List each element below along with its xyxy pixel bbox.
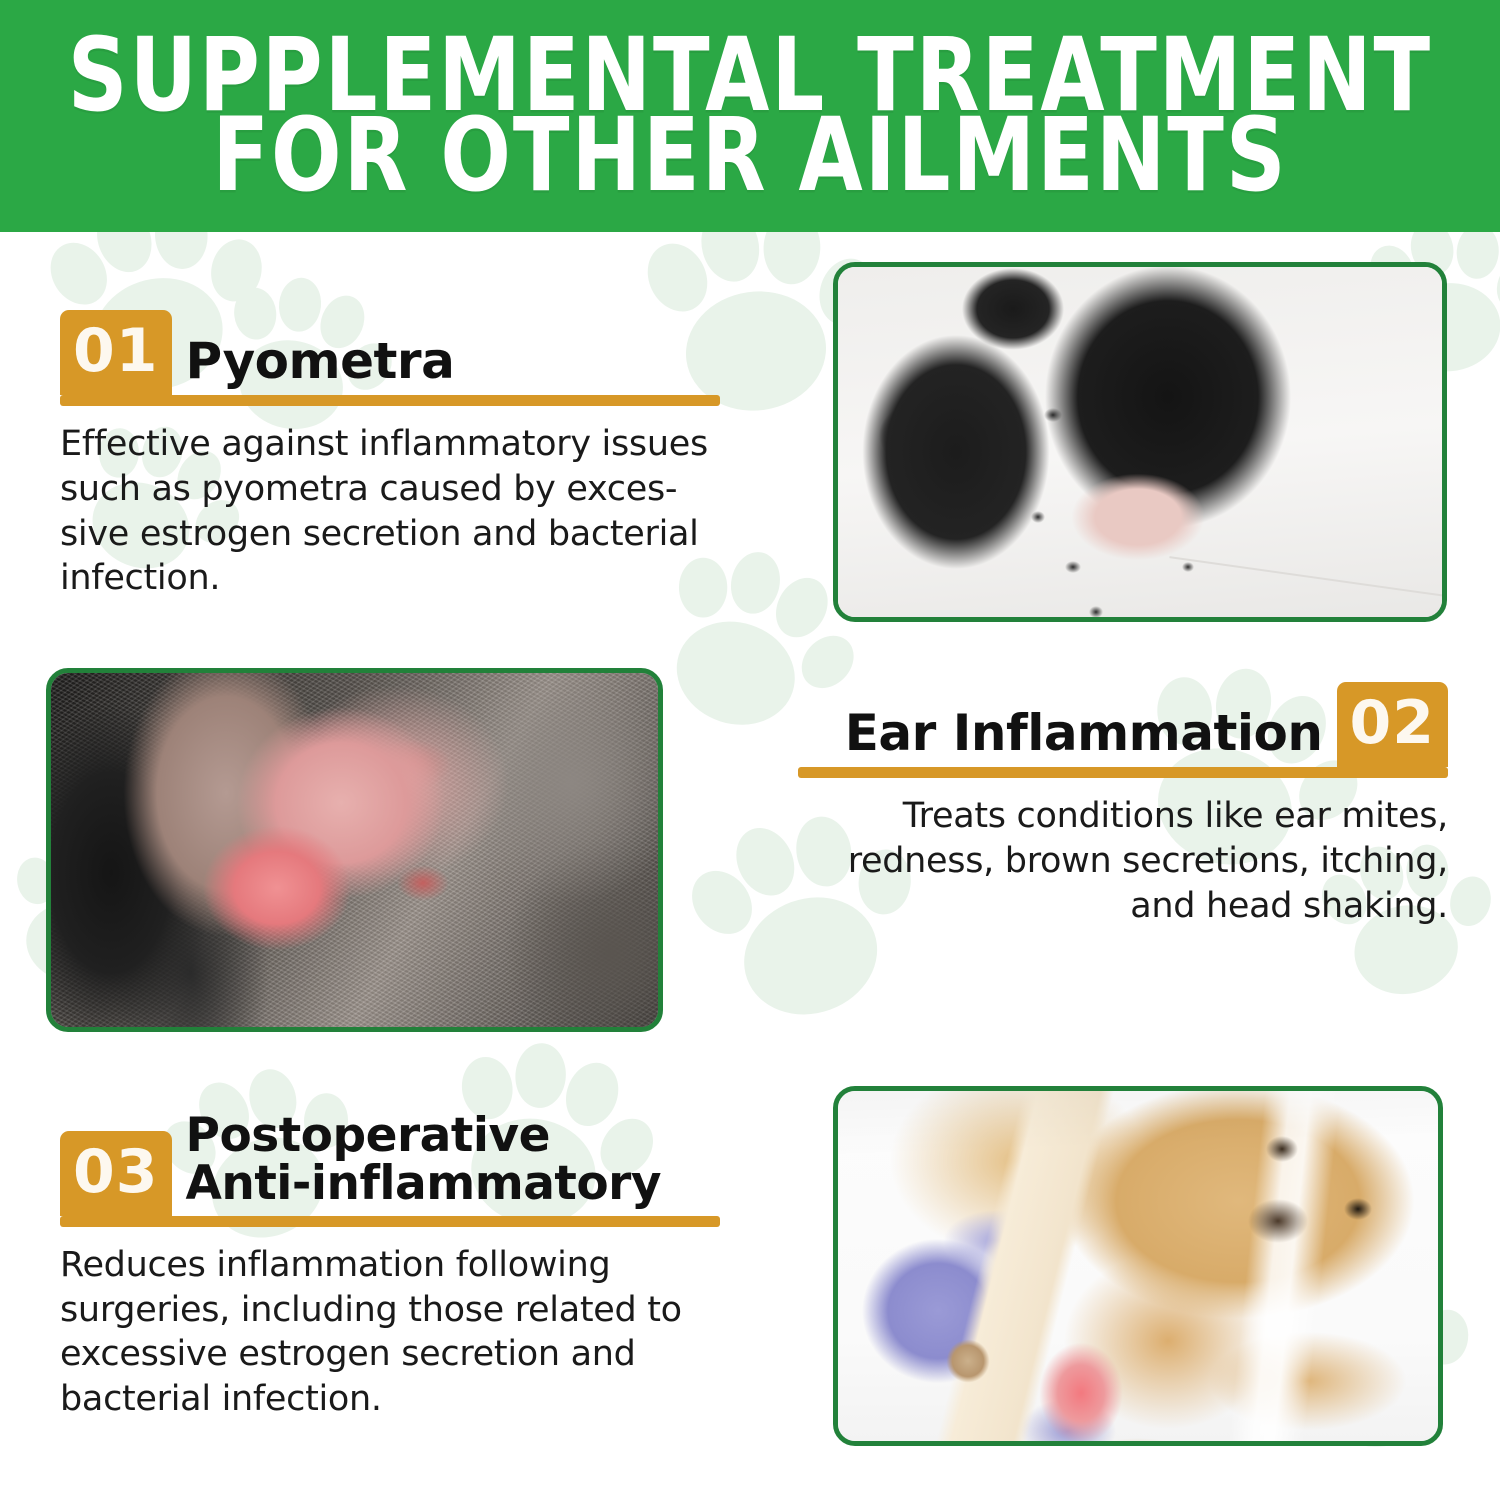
header-title-line-2: FOR OTHER AILMENTS xyxy=(212,110,1287,203)
section-postoperative: 03 Postoperative Anti-inflammatory Reduc… xyxy=(60,1112,720,1422)
photo-vet-bandaging-leg-image xyxy=(838,1091,1438,1441)
section-postoperative-header: 03 Postoperative Anti-inflammatory xyxy=(60,1112,720,1216)
section-postoperative-number: 03 xyxy=(60,1131,172,1216)
section-postoperative-title: Postoperative Anti-inflammatory xyxy=(172,1112,721,1216)
section-pyometra: 01 Pyometra Effective against inflammato… xyxy=(60,310,720,601)
section-postoperative-title-line-1: Postoperative xyxy=(186,1112,711,1160)
page-header: SUPPLEMENTAL TREATMENT FOR OTHER AILMENT… xyxy=(0,0,1500,232)
photo-inflamed-ear xyxy=(46,668,663,1032)
section-postoperative-underline xyxy=(60,1216,720,1227)
section-pyometra-number: 01 xyxy=(60,310,172,395)
content-area: 01 Pyometra Effective against inflammato… xyxy=(0,232,1500,1500)
section-postoperative-title-line-2: Anti-inflammatory xyxy=(186,1160,711,1208)
section-pyometra-underline xyxy=(60,395,720,406)
photo-inflamed-ear-image xyxy=(51,673,658,1027)
photo-vet-bandaging-leg xyxy=(833,1086,1443,1446)
photo-dog-resting-image xyxy=(838,267,1442,617)
section-pyometra-header: 01 Pyometra xyxy=(60,310,720,395)
section-pyometra-body: Effective against inflammatory issues su… xyxy=(60,406,720,601)
section-ear-inflammation-underline xyxy=(798,767,1448,778)
section-ear-inflammation-body: Treats conditions like ear mites, rednes… xyxy=(798,778,1448,928)
section-ear-inflammation-header: Ear Inflammation 02 xyxy=(798,682,1448,767)
section-ear-inflammation-title: Ear Inflammation xyxy=(798,708,1337,767)
section-ear-inflammation: Ear Inflammation 02 Treats conditions li… xyxy=(798,682,1448,928)
section-postoperative-body: Reduces inflammation following surgeries… xyxy=(60,1227,720,1422)
photo-dog-resting xyxy=(833,262,1447,622)
section-pyometra-title: Pyometra xyxy=(172,336,721,395)
section-ear-inflammation-number: 02 xyxy=(1337,682,1449,767)
